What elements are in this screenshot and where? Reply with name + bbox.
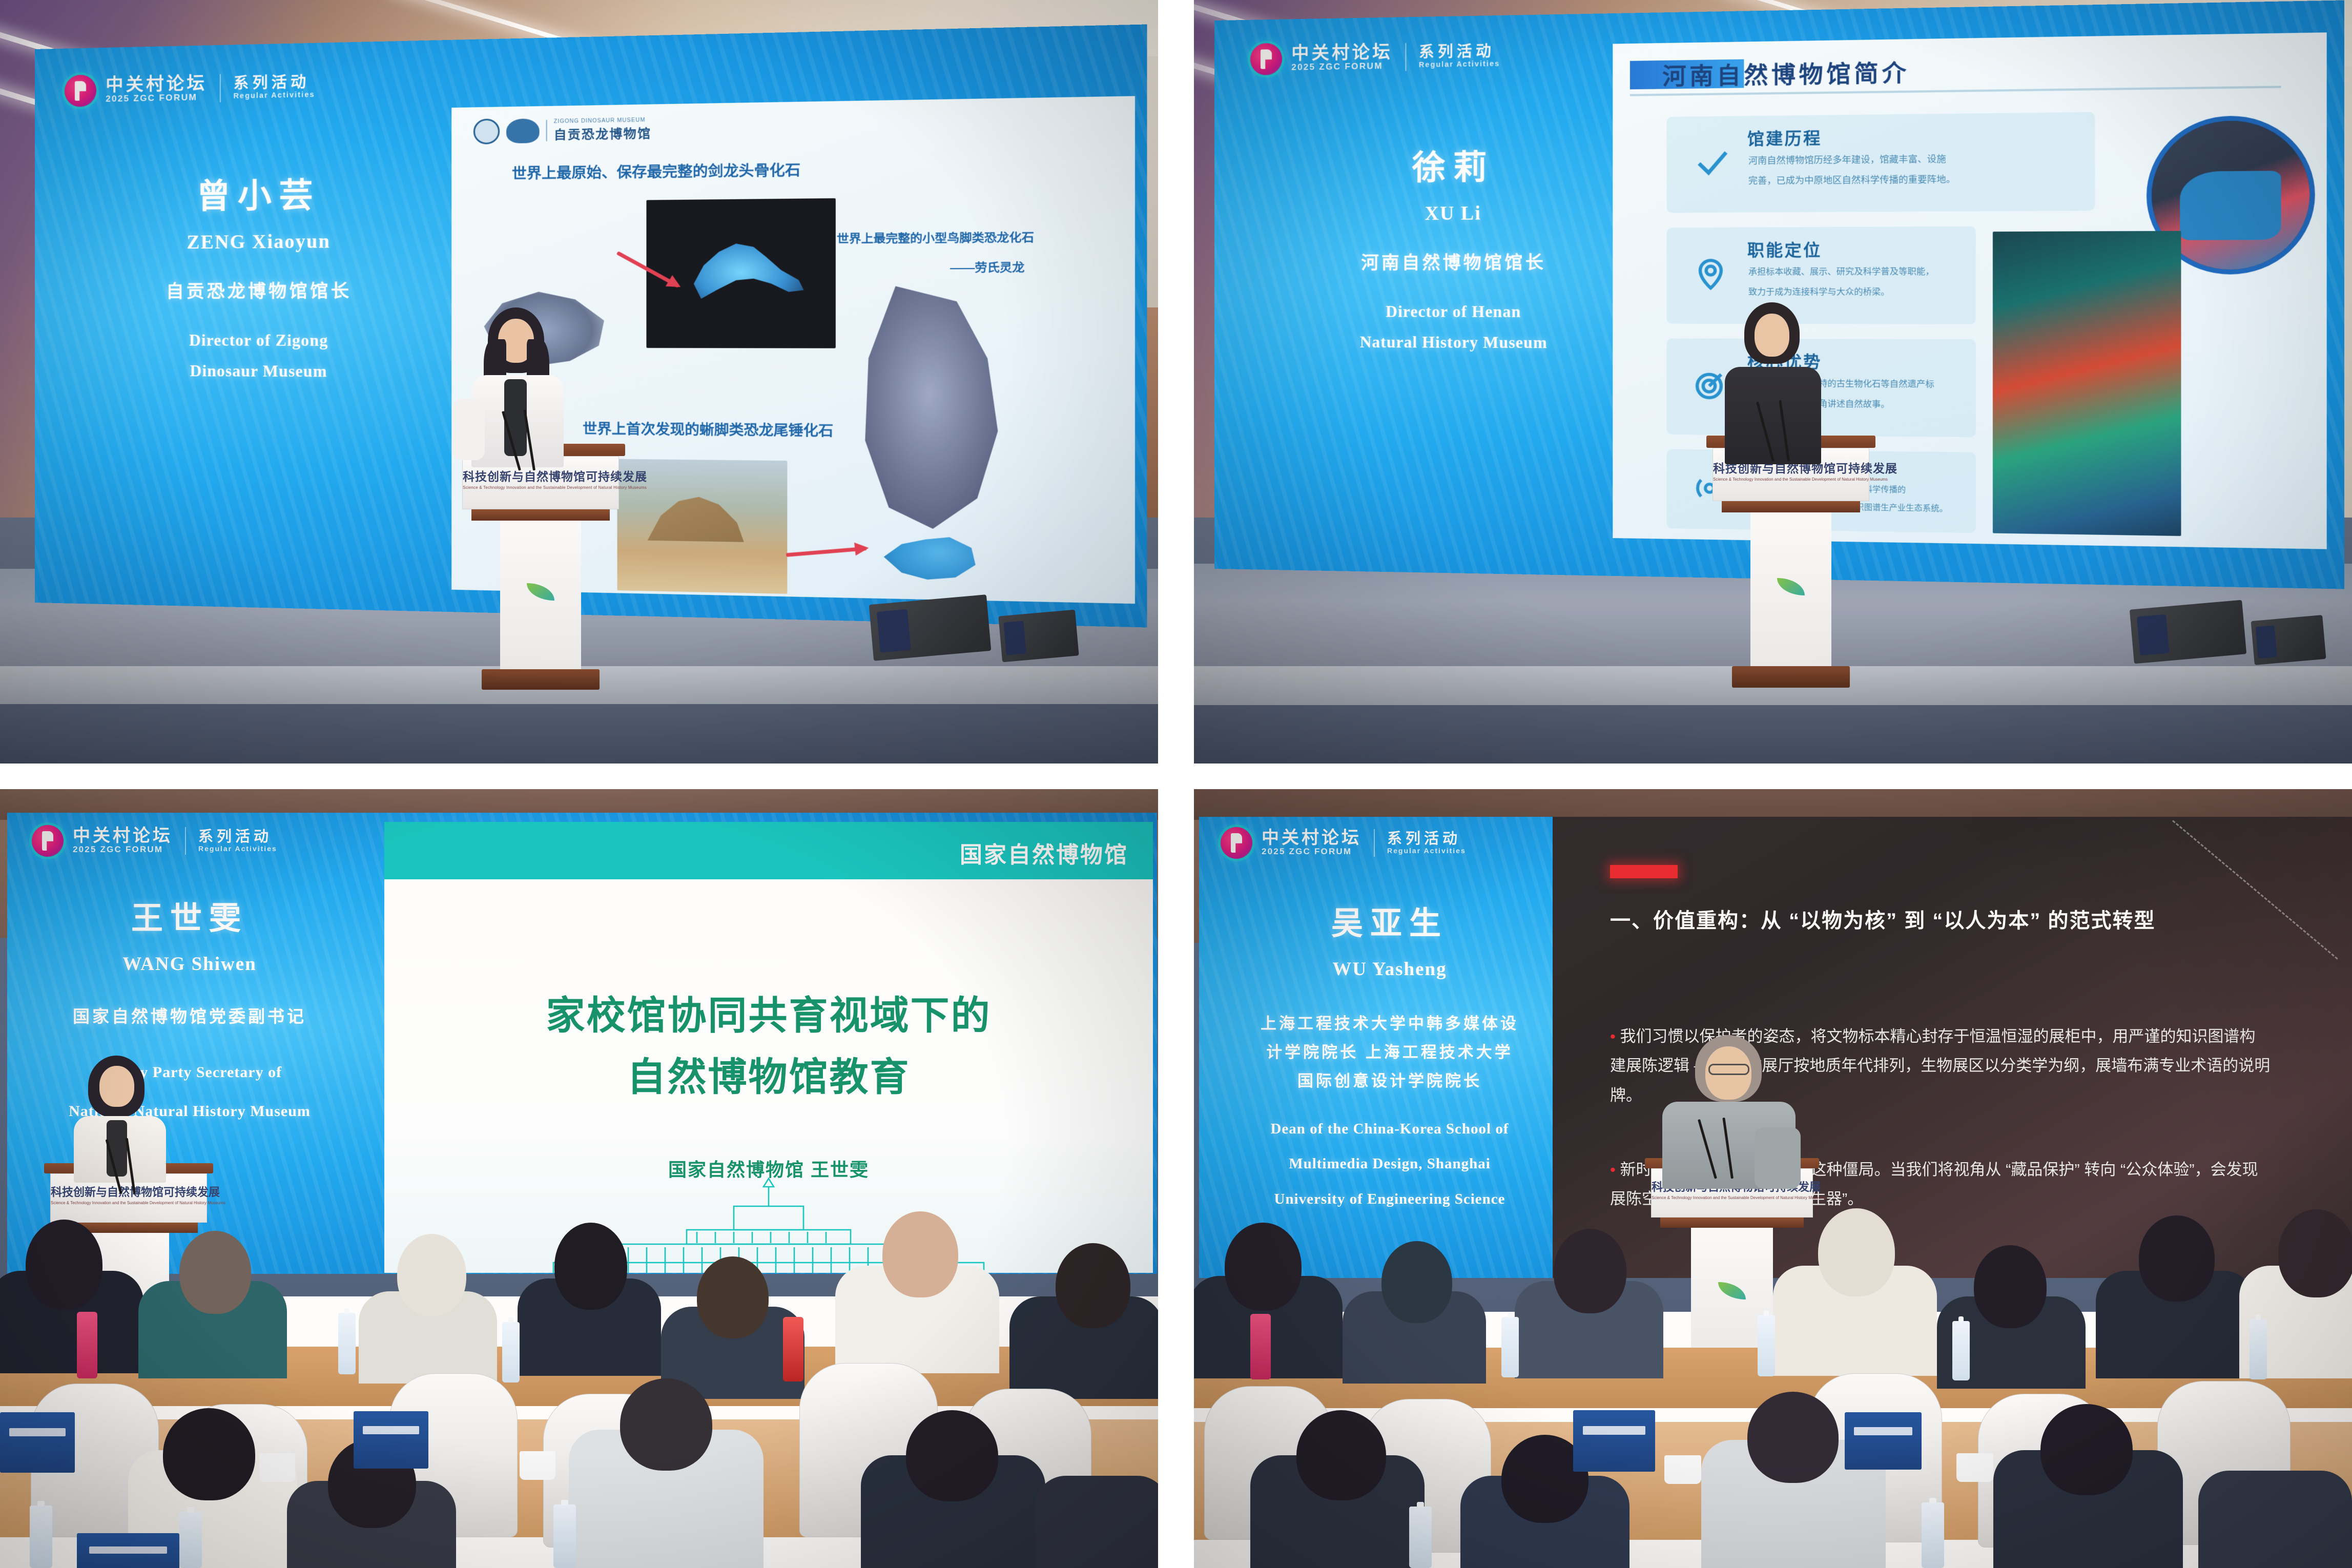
exhibit-hall-photo	[1993, 231, 2181, 536]
photo-collage: 中关村论坛 2025 ZGC FORUM 系列活动 Regular Activi…	[0, 0, 2352, 1568]
forum-lockup: 中关村论坛 2025 ZGC FORUM 系列活动 Regular Activi…	[1250, 39, 1500, 75]
leaf-emblem-icon	[1777, 578, 1805, 595]
speaker-person	[1645, 1035, 1819, 1184]
name-placard	[77, 1533, 179, 1568]
attendee-head	[1056, 1243, 1130, 1328]
leaf-emblem-icon	[527, 583, 554, 601]
attendee-head	[1747, 1392, 1839, 1483]
thermos-bottle	[1250, 1314, 1271, 1379]
speaker-name-pinyin: WU Yasheng	[1210, 957, 1569, 982]
water-bottle	[30, 1505, 52, 1568]
speaker-role-cn-1: 上海工程技术大学中韩多媒体设	[1210, 1012, 1569, 1036]
name-placard	[1573, 1410, 1655, 1472]
forum-title-cn: 中关村论坛	[106, 74, 207, 94]
speaker-info-block: 吴亚生 WU Yasheng 上海工程技术大学中韩多媒体设 计学院院长 上海工程…	[1210, 904, 1569, 1211]
attendee-head	[1225, 1223, 1302, 1311]
panel-bottom-left: 中关村论坛 2025 ZGC FORUM 系列活动 Regular Activi…	[0, 789, 1158, 1568]
speaker-role-en-2: Multimedia Design, Shanghai	[1210, 1152, 1569, 1175]
water-bottle	[179, 1512, 202, 1568]
forum-title-en: 2025 ZGC FORUM	[106, 92, 207, 105]
lockup-divider	[185, 827, 186, 855]
podium: 科技创新与自然博物馆可持续发展 Science & Technology Inn…	[456, 444, 625, 700]
presentation-slide: 国家自然博物馆 家校馆协同共育视域下的 自然博物馆教育 国家自然博物馆 王世雯	[384, 822, 1153, 1273]
speaker-role-cn: 河南自然博物馆馆长	[1307, 249, 1602, 277]
speaker-name-cn: 王世雯	[15, 899, 364, 939]
attendee-head	[397, 1234, 466, 1316]
forum-lockup: 中关村论坛 2025 ZGC FORUM 系列活动 Regular Activi…	[32, 825, 277, 857]
podium-logo	[1750, 578, 1831, 598]
water-bottle	[1409, 1507, 1432, 1568]
card-heading: 馆建历程	[1747, 125, 1822, 149]
attendee-head	[1818, 1208, 1895, 1296]
series-title-en: Regular Activities	[1387, 847, 1466, 855]
thermos-bottle	[77, 1312, 97, 1378]
series-title-cn: 系列活动	[198, 829, 277, 844]
attendee-head	[1974, 1245, 2047, 1328]
check-icon	[1693, 145, 1730, 182]
tea-cup	[520, 1451, 555, 1480]
slide-caption-3: ——劳氏灵龙	[950, 258, 1025, 275]
speaker-role-en-2: Natural History Museum	[1307, 329, 1602, 356]
water-bottle	[502, 1322, 520, 1383]
card-body-1: 河南自然博物馆历经多年建设，馆藏丰富、设施	[1748, 151, 1946, 166]
speaker-name-pinyin: XU Li	[1307, 200, 1602, 227]
podium-base	[1732, 666, 1850, 688]
water-bottle	[1952, 1321, 1970, 1380]
panel-top-right: 中关村论坛 2025 ZGC FORUM 系列活动 Regular Activi…	[1194, 0, 2352, 764]
speaker-role-cn-3: 国际创意设计学院院长	[1210, 1069, 1569, 1094]
eyeglasses-icon	[1708, 1064, 1749, 1075]
card-body-1: 承担标本收藏、展示、研究及科学普及等职能，	[1748, 264, 1934, 277]
speaker-person	[451, 307, 584, 461]
inner-top	[504, 379, 527, 456]
speaker-role-cn: 自贡恐龙博物馆馆长	[112, 277, 408, 305]
attendee-head	[163, 1408, 255, 1500]
attendee-head	[2040, 1404, 2133, 1495]
attendee-shoulders	[1035, 1476, 1158, 1568]
panel-bottom-right: 中关村论坛 2025 ZGC FORUM 系列活动 Regular Activi…	[1194, 789, 2352, 1568]
museum-emblem-icon	[506, 118, 540, 143]
stegosaurus-skeleton-photo	[646, 198, 835, 348]
slide-caption-4: 世界上首次发现的蜥脚类恐龙尾锤化石	[583, 418, 833, 440]
speaker-info-block: 徐莉 XU Li 河南自然博物馆馆长 Director of Henan Nat…	[1307, 145, 1602, 356]
arm	[1755, 1127, 1801, 1189]
podium-banner-en: Science & Technology Innovation and the …	[51, 1201, 207, 1205]
podium-logo	[500, 583, 581, 603]
podium-logo	[1691, 1282, 1773, 1302]
speaker-person	[1706, 302, 1840, 456]
forum-lockup: 中关村论坛 2025 ZGC FORUM 系列活动 Regular Activi…	[1221, 827, 1466, 859]
slide-title-line1: 家校馆协同共育视域下的	[384, 991, 1153, 1042]
card-heading: 职能定位	[1747, 237, 1822, 261]
slide-caption-1: 世界上最原始、保存最完整的剑龙头骨化石	[512, 158, 800, 183]
stage-monitor-speaker	[2130, 600, 2246, 664]
forum-title-cn: 中关村论坛	[73, 827, 173, 845]
speaker-role-en-2: Dinosaur Museum	[112, 358, 408, 385]
forum-title-cn: 中关村论坛	[1291, 43, 1393, 63]
tea-cup	[259, 1453, 295, 1482]
speaker-name-cn: 徐莉	[1307, 145, 1602, 189]
torso	[1725, 367, 1821, 464]
zgc-logo-icon	[32, 825, 64, 857]
podium-ledge	[1660, 1218, 1804, 1228]
podium-base	[482, 669, 600, 690]
water-bottle	[1922, 1502, 1944, 1568]
speaker-info-block: 曾小芸 ZENG Xiaoyun 自贡恐龙博物馆馆长 Director of Z…	[112, 173, 408, 385]
info-card: 馆建历程 河南自然博物馆历经多年建设，馆藏丰富、设施 完善，已成为中原地区自然科…	[1667, 112, 2095, 213]
decor-dashed-line	[2172, 820, 2338, 959]
bullet-marker: •	[1610, 1027, 1616, 1045]
zgc-logo-icon	[1221, 827, 1252, 859]
stage-monitor-speaker	[998, 610, 1079, 663]
series-title-en: Regular Activities	[1419, 59, 1500, 69]
water-bottle	[338, 1313, 356, 1374]
thermos-bottle	[783, 1317, 803, 1381]
card-body-2: 致力于成为连接科学与大众的桥梁。	[1748, 284, 1890, 297]
attendee-head	[620, 1378, 712, 1471]
podium-column	[500, 521, 581, 669]
attendee-head	[1381, 1241, 1452, 1323]
leaf-emblem-icon	[1718, 1282, 1746, 1299]
museum-seal-icon	[473, 118, 500, 145]
speaker-role-en-3: University of Engineering Science	[1210, 1187, 1569, 1211]
attendee-head	[882, 1211, 958, 1297]
attendee-head	[697, 1256, 769, 1338]
speaker-role-en-1: Director of Zigong	[112, 327, 408, 354]
head	[99, 1066, 134, 1107]
museum-logo-cn: 自贡恐龙博物馆	[554, 123, 652, 142]
dinosaur-mount-shape	[641, 483, 753, 559]
water-bottle	[2250, 1319, 2267, 1379]
slide-heading: 一、价值重构：从 “以物为核” 到 “以人为本” 的范式转型	[1610, 904, 2155, 934]
org-banner-text: 国家自然博物馆	[960, 836, 1128, 869]
floor-carpet	[1194, 705, 2352, 764]
zgc-logo-icon	[65, 75, 96, 107]
podium-ledge	[1722, 501, 1860, 512]
forum-lockup: 中关村论坛 2025 ZGC FORUM 系列活动 Regular Activi…	[65, 70, 315, 107]
logo-divider	[546, 120, 547, 141]
attendee-head	[2278, 1209, 2352, 1297]
series-title-cn: 系列活动	[1419, 44, 1500, 60]
attendee-head	[554, 1223, 627, 1310]
podium-banner-cn: 科技创新与自然博物馆可持续发展	[463, 467, 618, 484]
name-placard	[354, 1411, 428, 1469]
speaker-name-pinyin: WANG Shiwen	[15, 952, 364, 977]
podium: 科技创新与自然博物馆可持续发展 Science & Technology Inn…	[1706, 436, 1875, 702]
forum-title-en: 2025 ZGC FORUM	[1291, 61, 1393, 73]
series-title-cn: 系列活动	[1387, 831, 1466, 847]
attendee-head	[1296, 1410, 1386, 1500]
speaker-role-en-1: Dean of the China-Korea School of	[1210, 1117, 1569, 1141]
zigong-museum-logo: ZIGONG DINOSAUR MUSEUM 自贡恐龙博物馆	[473, 116, 651, 145]
slide-caption-2: 世界上最完整的小型鸟脚类恐龙化石	[837, 229, 1034, 246]
speaker-name-cn: 吴亚生	[1210, 904, 1569, 944]
bullet-marker: •	[1610, 1161, 1616, 1179]
speaker-person	[53, 1056, 187, 1189]
slide-title: 河南自然博物馆简介	[1662, 54, 1910, 92]
podium-ledge	[471, 509, 610, 521]
speaker-name-pinyin: ZENG Xiaoyun	[112, 229, 408, 256]
panel-top-left: 中关村论坛 2025 ZGC FORUM 系列活动 Regular Activi…	[0, 0, 1158, 764]
attendee-head	[1554, 1229, 1626, 1313]
attendee-head	[179, 1231, 251, 1314]
accent-bar	[1610, 865, 1678, 878]
slide-header: 河南自然博物馆简介	[1630, 54, 1910, 92]
stage-monitor-speaker	[2251, 615, 2326, 665]
water-bottle	[1501, 1317, 1519, 1377]
podium-banner-en: Science & Technology Innovation and the …	[463, 485, 618, 490]
attendee-shoulders	[2198, 1471, 2352, 1568]
location-pin-icon	[1693, 256, 1728, 291]
card-body-2: 完善，已成为中原地区自然科学传播的重要阵地。	[1748, 172, 1956, 187]
attendee-head	[906, 1410, 998, 1501]
name-placard	[0, 1412, 75, 1473]
water-bottle	[553, 1504, 576, 1568]
podium-column	[1750, 512, 1831, 666]
forum-title-cn: 中关村论坛	[1262, 829, 1361, 847]
attendee-head	[26, 1220, 102, 1310]
speaker-role-cn-2: 计学院院长 上海工程技术大学	[1210, 1040, 1569, 1065]
arm	[453, 399, 485, 460]
zgc-logo-icon	[1250, 43, 1282, 75]
slide-title-line2: 自然博物馆教育	[384, 1053, 1153, 1103]
water-bottle	[1758, 1315, 1775, 1376]
forum-title-en: 2025 ZGC FORUM	[73, 844, 173, 855]
series-title-en: Regular Activities	[234, 90, 315, 100]
name-placard	[1845, 1412, 1922, 1470]
speaker-name-cn: 曾小芸	[112, 173, 408, 217]
head	[1755, 314, 1789, 357]
series-title-en: Regular Activities	[198, 844, 277, 853]
podium-banner-en: Science & Technology Innovation and the …	[1713, 477, 1869, 482]
lockup-divider	[220, 74, 221, 102]
floor-carpet	[0, 704, 1158, 764]
series-title-cn: 系列活动	[234, 74, 315, 92]
forum-title-en: 2025 ZGC FORUM	[1262, 847, 1361, 857]
lockup-divider	[1374, 829, 1375, 857]
tea-cup	[1664, 1455, 1701, 1484]
speaker-role-en-1: Director of Henan	[1307, 299, 1602, 325]
stage-monitor-speaker	[869, 594, 992, 661]
speaker-role-cn: 国家自然博物馆党委副书记	[15, 1003, 364, 1029]
skeleton-shape	[684, 232, 809, 316]
lockup-divider	[1405, 43, 1406, 71]
attendee-head	[2139, 1215, 2215, 1302]
dinosaur-statue-shape	[2180, 171, 2281, 240]
podium-banner-en: Science & Technology Innovation and the …	[1652, 1195, 1812, 1200]
tea-cup	[1956, 1453, 1993, 1482]
